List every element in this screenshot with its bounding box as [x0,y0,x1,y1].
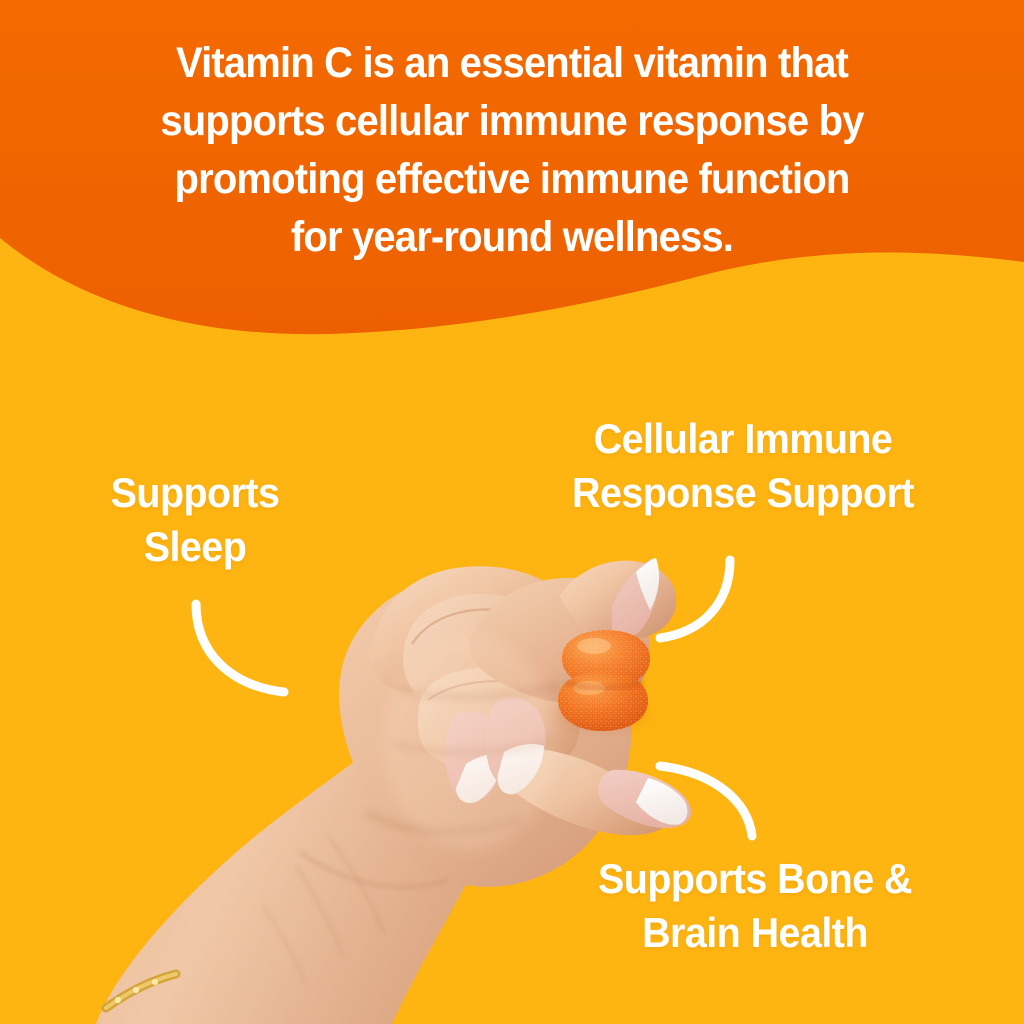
callout-immune-line-1: Cellular Immune [503,412,982,466]
arc-connector-icon-bone [660,766,752,836]
callout-sleep-line-2: Sleep [45,520,346,574]
callout-sleep-line-1: Supports [45,466,346,520]
callout-supports-bone-brain-health: Supports Bone & Brain Health [515,852,994,960]
callout-immune-line-2: Response Support [503,466,982,520]
callout-bone-line-1: Supports Bone & [515,852,994,906]
promo-graphic: Vitamin C is an essential vitamin that s… [0,0,1024,1024]
arc-connector-icon-sleep [196,604,284,692]
arc-connector-icon-immune [660,560,730,638]
callout-cellular-immune-response-support: Cellular Immune Response Support [503,412,982,520]
callout-supports-sleep: Supports Sleep [45,466,346,574]
callout-bone-line-2: Brain Health [515,906,994,960]
